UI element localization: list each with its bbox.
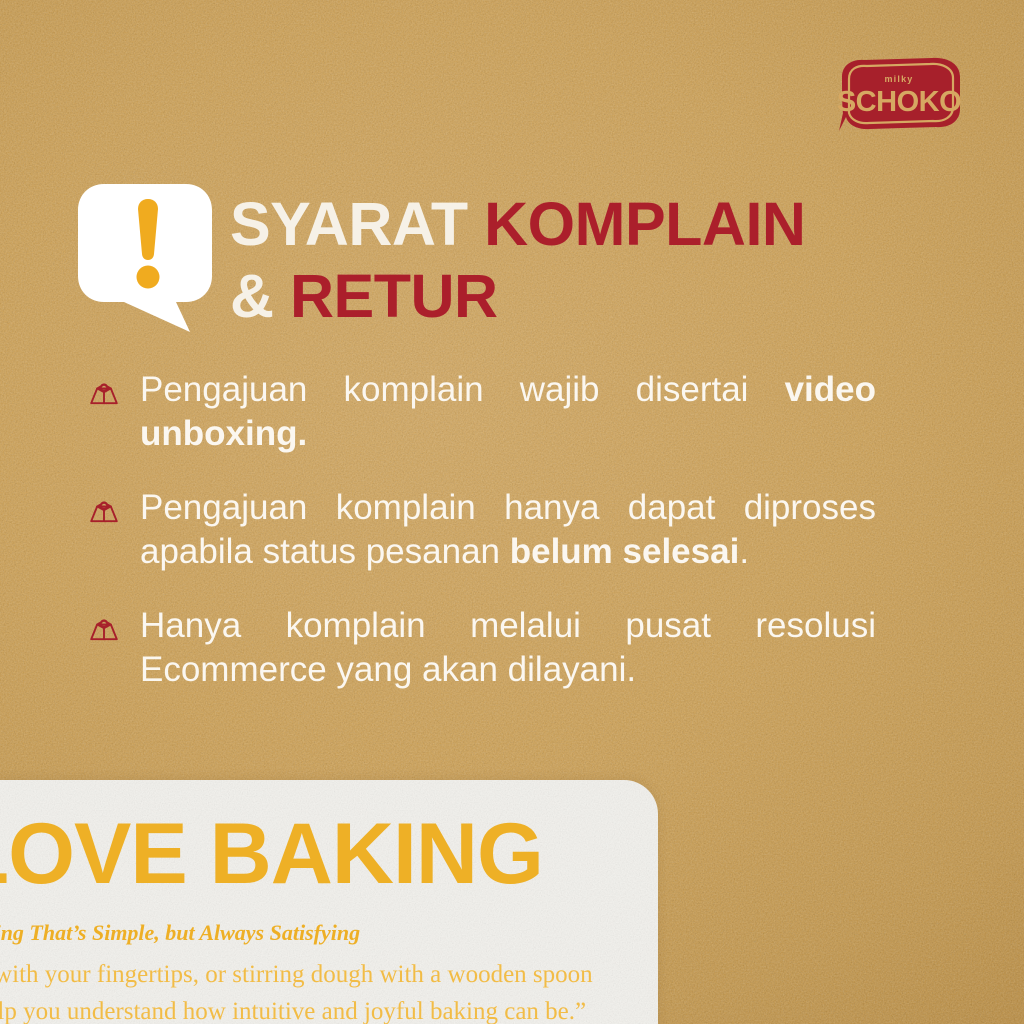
- page-title-syarat: SYARAT: [230, 190, 484, 258]
- logo-tagline-text: milky: [884, 74, 913, 84]
- list-item: Pengajuan komplain hanya dapat diproses …: [86, 486, 876, 574]
- page-title-komplain: KOMPLAIN: [484, 190, 805, 258]
- exclamation-speech-bubble-icon: [78, 184, 212, 332]
- page-title-ampersand: &: [230, 262, 290, 330]
- card-headline: WE LOVE BAKING: [0, 806, 650, 902]
- list-item-text-emphasis: belum selesai: [510, 532, 740, 571]
- card-subtitle: Baking That’s Simple, but Always Satisfy…: [0, 920, 658, 946]
- list-item-text-plain: Hanya komplain melalui pusat resolusi Ec…: [140, 606, 876, 689]
- requirements-list: Pengajuan komplain wajib disertai video …: [86, 368, 876, 722]
- list-item-text: Pengajuan komplain hanya dapat diproses …: [140, 486, 876, 574]
- brand-logo[interactable]: milky SCHOKO: [834, 55, 964, 133]
- page-title-line-1: SYARAT KOMPLAIN: [230, 188, 950, 260]
- schoko-logo-icon: milky SCHOKO: [834, 55, 964, 133]
- open-box-icon: [86, 376, 122, 412]
- list-item-text-plain: Pengajuan komplain wajib disertai: [140, 370, 785, 409]
- page-title-retur: RETUR: [290, 262, 498, 330]
- we-love-baking-card: WE LOVE BAKING Baking That’s Simple, but…: [0, 780, 658, 1024]
- poster-canvas: milky SCHOKO SYARAT KOMPLAIN & RETUR: [0, 0, 1024, 1024]
- list-item-text-plain: Pengajuan komplain hanya dapat diproses …: [140, 488, 876, 571]
- list-item: Pengajuan komplain wajib disertai video …: [86, 368, 876, 456]
- list-item: Hanya komplain melalui pusat resolusi Ec…: [86, 604, 876, 692]
- open-box-icon: [86, 612, 122, 648]
- open-box-icon: [86, 494, 122, 530]
- page-title-line-2: & RETUR: [230, 260, 950, 332]
- list-item-text: Hanya komplain melalui pusat resolusi Ec…: [140, 604, 876, 692]
- list-item-text-tail: .: [739, 532, 749, 571]
- list-item-text: Pengajuan komplain wajib disertai video …: [140, 368, 876, 456]
- logo-wordmark-text: SCHOKO: [837, 86, 961, 118]
- page-title: SYARAT KOMPLAIN & RETUR: [230, 188, 950, 332]
- card-body-text: “Working flour into butter with your fin…: [0, 956, 658, 1024]
